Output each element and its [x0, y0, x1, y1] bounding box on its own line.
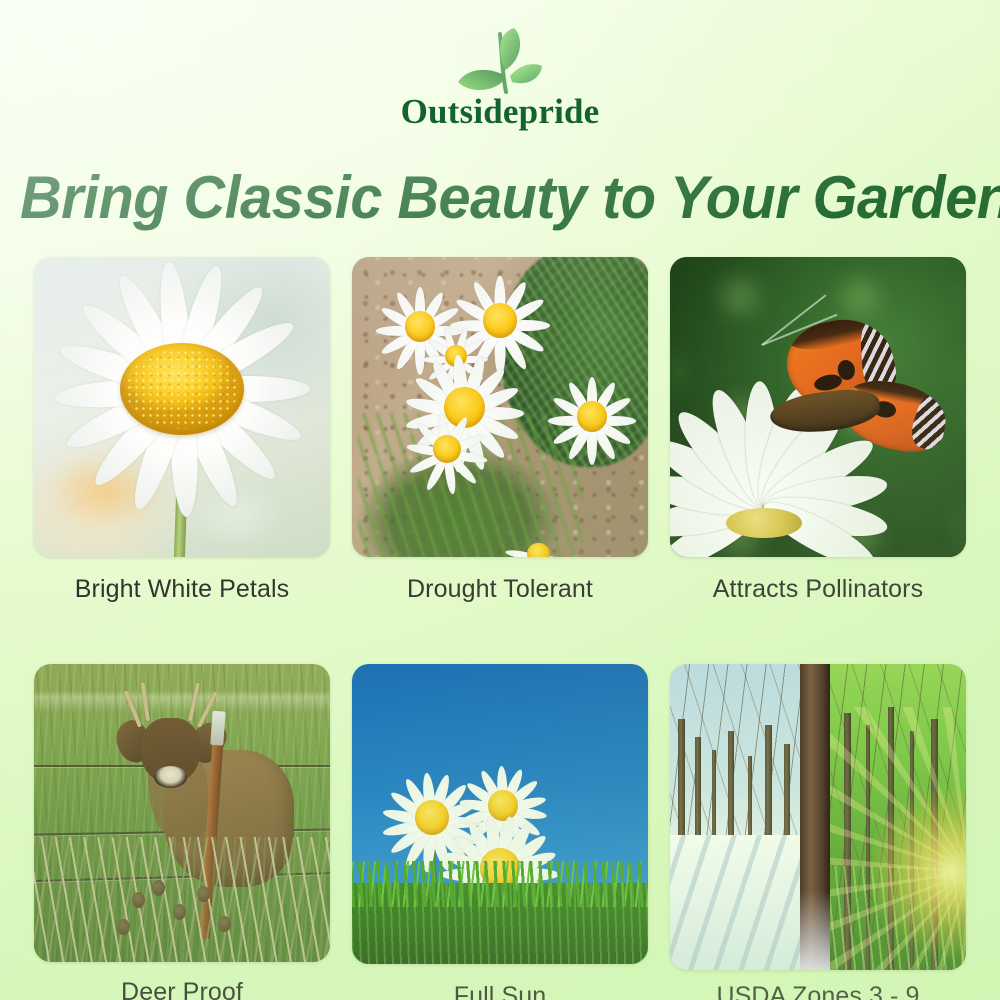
feature-image-full-sun — [352, 664, 648, 964]
feature-image-drought-tolerant — [352, 257, 648, 557]
feature-card-deer-proof: Deer Proof — [34, 664, 330, 1000]
feature-image-usda-zones — [670, 664, 966, 970]
feature-row-top: Bright White Petals — [34, 257, 966, 604]
feature-card-bright-white-petals: Bright White Petals — [34, 257, 330, 604]
feature-caption: Drought Tolerant — [352, 575, 648, 604]
infographic-page: Outsidepride Bring Classic Beauty to You… — [0, 0, 1000, 1000]
feature-grid: Bright White Petals — [34, 257, 966, 1000]
feature-caption: Full Sun — [352, 982, 648, 1000]
feature-card-attracts-pollinators: Attracts Pollinators — [670, 257, 966, 604]
three-leaf-sprout-icon — [440, 26, 560, 98]
feature-caption: Bright White Petals — [34, 575, 330, 604]
feature-row-bottom: Deer Proof — [34, 664, 966, 1000]
feature-image-attracts-pollinators — [670, 257, 966, 557]
page-title: Bring Classic Beauty to Your Garden — [20, 168, 980, 228]
feature-caption: Attracts Pollinators — [670, 575, 966, 604]
feature-image-deer-proof — [34, 664, 330, 962]
feature-card-usda-zones: USDA Zones 3 - 9 — [670, 664, 966, 1000]
feature-caption: Deer Proof — [34, 978, 330, 1000]
feature-card-full-sun: Full Sun — [352, 664, 648, 1000]
brand-wordmark: Outsidepride — [0, 92, 1000, 132]
feature-image-bright-white-petals — [34, 257, 330, 557]
brand-logo: Outsidepride — [0, 26, 1000, 146]
feature-card-drought-tolerant: Drought Tolerant — [352, 257, 648, 604]
feature-caption: USDA Zones 3 - 9 — [670, 982, 966, 1000]
